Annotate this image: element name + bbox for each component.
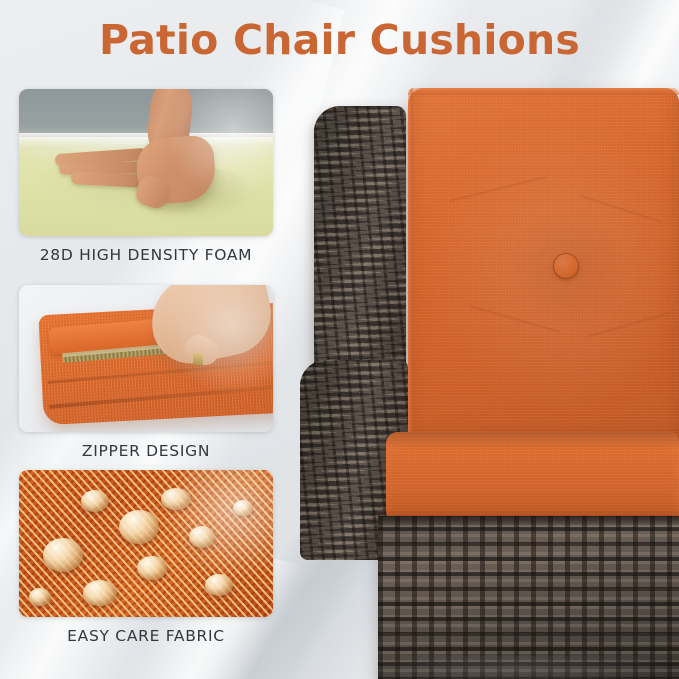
floor-shadow (360, 656, 679, 679)
tufted-button (554, 254, 578, 278)
wicker-weave-texture (378, 516, 679, 679)
water-droplet (29, 588, 51, 606)
water-droplet (43, 538, 83, 572)
foam-thumbnail-image (19, 89, 273, 236)
feature-caption-fabric: EASY CARE FABRIC (19, 627, 273, 645)
base-shadow (378, 516, 679, 526)
image-highlight (163, 285, 273, 395)
fabric-thumbnail-image (19, 470, 273, 617)
seat-cushion (386, 432, 679, 526)
water-droplet (119, 510, 159, 544)
feature-card-fabric: EASY CARE FABRIC (19, 470, 273, 645)
image-highlight (163, 89, 273, 199)
feature-caption-zipper: ZIPPER DESIGN (19, 442, 273, 460)
zipper-thumbnail-image (19, 285, 273, 432)
product-chair-image (300, 60, 679, 679)
feature-caption-foam: 28D HIGH DENSITY FOAM (19, 246, 273, 264)
water-droplet (83, 580, 117, 606)
cushion-piping (408, 88, 413, 450)
page-title: Patio Chair Cushions (0, 16, 679, 64)
cushion-piping (408, 88, 679, 95)
feature-card-foam: 28D HIGH DENSITY FOAM (19, 89, 273, 264)
water-droplet (81, 490, 109, 512)
seat-shadow (386, 432, 679, 450)
infographic-canvas: Patio Chair Cushions 28D HIGH DENSITY FO… (0, 0, 679, 679)
back-cushion (408, 88, 679, 450)
wicker-base (378, 516, 679, 679)
feature-card-zipper: ZIPPER DESIGN (19, 285, 273, 460)
image-highlight (163, 470, 273, 580)
